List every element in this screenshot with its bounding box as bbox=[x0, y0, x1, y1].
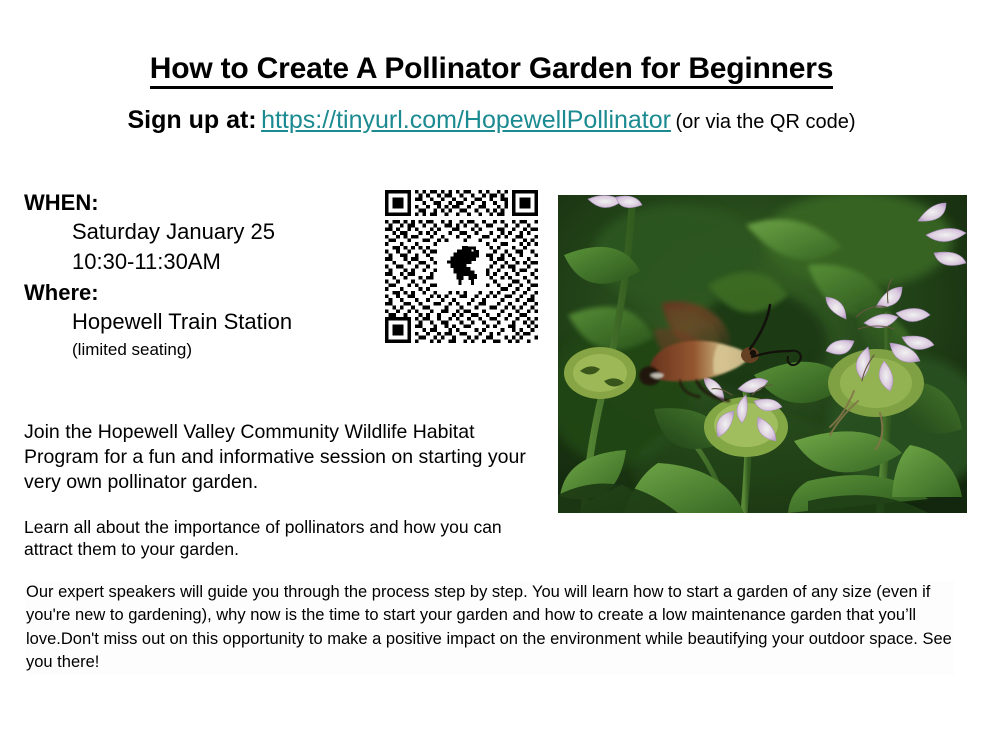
event-details: WHEN: Saturday January 25 10:30-11:30AM … bbox=[24, 188, 364, 361]
intro-paragraph: Join the Hopewell Valley Community Wildl… bbox=[24, 420, 544, 495]
signup-label: Sign up at: bbox=[127, 106, 256, 134]
pollinator-photo bbox=[558, 195, 967, 513]
flyer-page: How to Create A Pollinator Garden for Be… bbox=[0, 0, 983, 732]
when-label: WHEN: bbox=[24, 188, 364, 217]
signup-line: Sign up at: https://tinyurl.com/Hopewell… bbox=[0, 105, 983, 135]
pollinator-photo-graphic bbox=[558, 195, 967, 513]
signup-link[interactable]: https://tinyurl.com/HopewellPollinator bbox=[261, 106, 671, 134]
where-label: Where: bbox=[24, 278, 364, 307]
learn-paragraph: Learn all about the importance of pollin… bbox=[24, 516, 529, 561]
when-date: Saturday January 25 bbox=[24, 217, 364, 247]
page-title: How to Create A Pollinator Garden for Be… bbox=[0, 52, 983, 86]
where-place: Hopewell Train Station bbox=[24, 307, 364, 337]
qr-code-graphic bbox=[385, 190, 538, 343]
details-paragraph: Our expert speakers will guide you throu… bbox=[26, 581, 954, 675]
page-title-text: How to Create A Pollinator Garden for Be… bbox=[150, 52, 833, 89]
signup-note: (or via the QR code) bbox=[675, 111, 855, 133]
when-time: 10:30-11:30AM bbox=[24, 247, 364, 277]
qr-code[interactable] bbox=[385, 190, 538, 343]
where-note: (limited seating) bbox=[24, 339, 364, 361]
